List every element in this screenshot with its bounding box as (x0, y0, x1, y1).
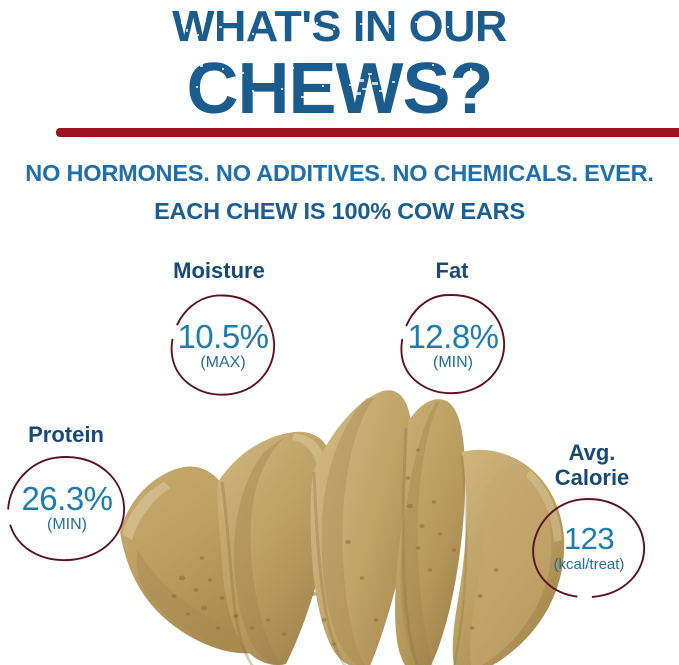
stat-fat-label: Fat (398, 258, 506, 283)
stat-avg-calorie-ring (530, 496, 648, 600)
stat-fat-ring (398, 292, 508, 398)
page-title-line2: CHEWS? (0, 52, 679, 126)
stat-avg-calorie-label-line1: Avg. (569, 440, 616, 465)
divider-rule (56, 128, 679, 137)
cow-ear-chews-photo (118, 382, 566, 665)
subheading-composition: EACH CHEW IS 100% COW EARS (0, 198, 679, 225)
headline-block: WHAT'S IN OUR CHEWS? (0, 0, 679, 126)
stat-protein-ring (5, 454, 129, 564)
subheading-claims: NO HORMONES. NO ADDITIVES. NO CHEMICALS.… (0, 160, 679, 187)
stat-avg-calorie-label: Avg. Calorie (530, 440, 654, 490)
stat-moisture-ring (167, 292, 279, 400)
chews-nutrition-infographic: WHAT'S IN OUR CHEWS? (0, 0, 679, 665)
page-title-line1: WHAT'S IN OUR (0, 2, 679, 52)
stat-protein-label: Protein (18, 422, 114, 447)
stat-avg-calorie-label-line2: Calorie (555, 465, 630, 490)
stat-moisture-label: Moisture (160, 258, 278, 283)
